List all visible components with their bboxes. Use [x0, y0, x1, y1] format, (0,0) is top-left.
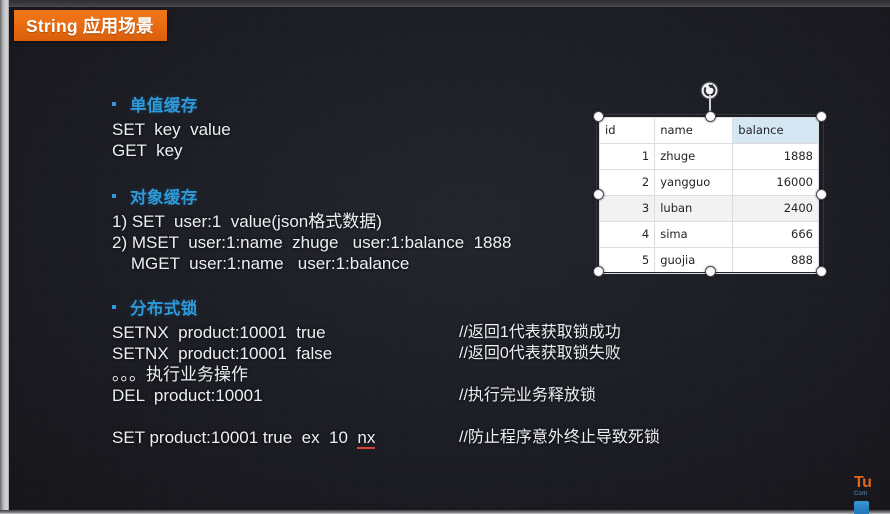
- resize-handle-bottom-center[interactable]: [705, 266, 716, 277]
- lock-command-row: 。。。执行业务操作: [112, 364, 375, 385]
- resize-handle-middle-right[interactable]: [816, 189, 827, 200]
- section-heading: 单值缓存: [112, 92, 231, 116]
- lock-command-row: DEL product:10001 //执行完业务释放锁: [112, 385, 375, 406]
- section-heading-label: 分布式锁: [130, 295, 198, 319]
- bullet-icon: [112, 102, 116, 106]
- slide-canvas: String 应用场景 单值缓存 SET key value GET key 对…: [9, 7, 890, 510]
- window-top-strip: [0, 0, 890, 7]
- table-header-id[interactable]: id: [600, 118, 655, 144]
- code-comment: //执行完业务释放锁: [459, 385, 596, 406]
- cell-balance[interactable]: 666: [733, 222, 819, 248]
- resize-handle-bottom-left[interactable]: [593, 266, 604, 277]
- bullet-icon: [112, 305, 116, 309]
- cell-name[interactable]: yangguo: [655, 170, 733, 196]
- resize-handle-middle-left[interactable]: [593, 189, 604, 200]
- embedded-table-object[interactable]: id name balance 1 zhuge 1888 2 yangguo 1…: [599, 117, 819, 269]
- cell-id[interactable]: 5: [600, 248, 655, 274]
- cell-balance[interactable]: 2400: [733, 196, 819, 222]
- code-line: 2) MSET user:1:name zhuge user:1:balance…: [112, 232, 511, 253]
- code-line: GET key: [112, 140, 231, 161]
- page-title: String 应用场景: [26, 13, 154, 38]
- section-heading: 对象缓存: [112, 184, 511, 208]
- code-comment: //返回0代表获取锁失败: [459, 343, 621, 364]
- cell-name[interactable]: zhuge: [655, 144, 733, 170]
- section-heading: 分布式锁: [112, 295, 375, 319]
- cell-id[interactable]: 4: [600, 222, 655, 248]
- table-header-name[interactable]: name: [655, 118, 733, 144]
- code-line: SET key value: [112, 119, 231, 140]
- code-line: 。。。执行业务操作: [112, 365, 248, 384]
- data-table[interactable]: id name balance 1 zhuge 1888 2 yangguo 1…: [599, 117, 819, 274]
- resize-handle-bottom-right[interactable]: [816, 266, 827, 277]
- section-heading-label: 对象缓存: [130, 184, 198, 208]
- code-line: DEL product:10001: [112, 386, 263, 405]
- lock-command-row: SETNX product:10001 true //返回1代表获取锁成功: [112, 322, 375, 343]
- cell-id[interactable]: 2: [600, 170, 655, 196]
- lock-final-command-row: SET product:10001 true ex 10 nx //防止程序意外…: [112, 427, 375, 448]
- table-row[interactable]: 2 yangguo 16000: [600, 170, 819, 196]
- section-heading-label: 单值缓存: [130, 92, 198, 116]
- watermark-text: Tu: [854, 474, 871, 492]
- cell-id[interactable]: 1: [600, 144, 655, 170]
- resize-handle-top-right[interactable]: [816, 111, 827, 122]
- code-line: MGET user:1:name user:1:balance: [112, 253, 511, 274]
- watermark-subtext: Com: [854, 491, 867, 497]
- table-row[interactable]: 3 luban 2400: [600, 196, 819, 222]
- screen: String 应用场景 单值缓存 SET key value GET key 对…: [0, 0, 890, 514]
- code-line: SETNX product:10001 true: [112, 323, 326, 342]
- cell-balance[interactable]: 16000: [733, 170, 819, 196]
- table-header-balance[interactable]: balance: [733, 118, 819, 144]
- resize-handle-top-left[interactable]: [593, 111, 604, 122]
- code-comment: //返回1代表获取锁成功: [459, 322, 621, 343]
- misspelled-token: nx: [357, 428, 375, 449]
- code-line: SET product:10001 true ex 10 nx: [112, 428, 375, 449]
- section-distributed-lock: 分布式锁 SETNX product:10001 true //返回1代表获取锁…: [112, 295, 375, 448]
- code-comment: //防止程序意外终止导致死锁: [459, 427, 660, 448]
- table-row[interactable]: 1 zhuge 1888: [600, 144, 819, 170]
- table-row[interactable]: 4 sima 666: [600, 222, 819, 248]
- cell-name[interactable]: sima: [655, 222, 733, 248]
- watermark-logo: Tu Com: [852, 472, 890, 514]
- code-line: 1) SET user:1 value(json格式数据): [112, 211, 511, 232]
- code-line: SETNX product:10001 false: [112, 344, 332, 363]
- slide-title-banner: String 应用场景: [14, 10, 167, 41]
- watermark-badge-icon: [854, 501, 869, 514]
- cell-balance[interactable]: 1888: [733, 144, 819, 170]
- lock-command-row: SETNX product:10001 false //返回0代表获取锁失败: [112, 343, 375, 364]
- window-left-strip: [0, 0, 9, 514]
- cell-name[interactable]: guojia: [655, 248, 733, 274]
- resize-handle-top-center[interactable]: [705, 111, 716, 122]
- window-bottom-strip: [0, 510, 890, 514]
- cell-balance[interactable]: 888: [733, 248, 819, 274]
- cell-name[interactable]: luban: [655, 196, 733, 222]
- code-line-prefix: SET product:10001 true ex 10: [112, 428, 357, 447]
- section-object-cache: 对象缓存 1) SET user:1 value(json格式数据) 2) MS…: [112, 184, 511, 274]
- bullet-icon: [112, 194, 116, 198]
- section-single-value-cache: 单值缓存 SET key value GET key: [112, 92, 231, 161]
- cell-id[interactable]: 3: [600, 196, 655, 222]
